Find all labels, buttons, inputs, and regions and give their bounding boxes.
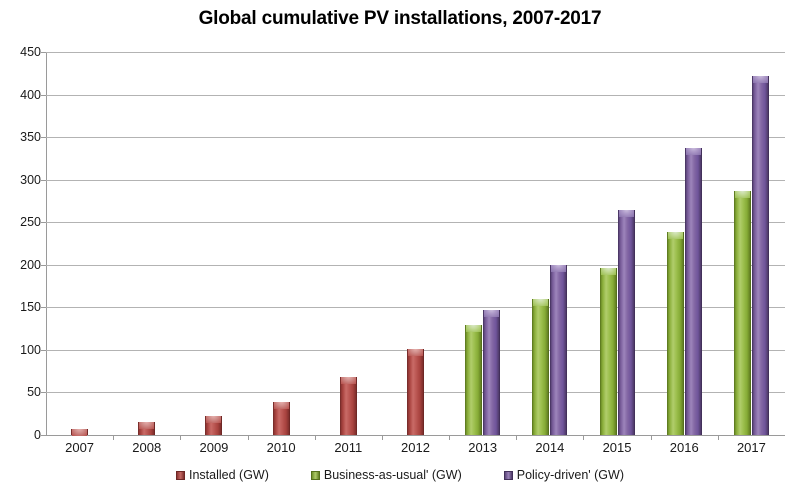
y-tick-label: 250 xyxy=(3,215,41,229)
legend-swatch-icon xyxy=(176,471,185,480)
x-tick-label: 2012 xyxy=(401,440,430,455)
bar[interactable] xyxy=(483,310,500,435)
y-tick-label: 200 xyxy=(3,258,41,272)
bar-top-cap xyxy=(753,76,768,83)
x-tick-label: 2009 xyxy=(199,440,228,455)
legend-item[interactable]: Policy-driven' (GW) xyxy=(504,468,624,482)
x-axis-line xyxy=(46,435,785,436)
x-tick-label: 2017 xyxy=(737,440,766,455)
y-tick-label: 350 xyxy=(3,130,41,144)
x-tick-label: 2016 xyxy=(670,440,699,455)
bar[interactable] xyxy=(600,268,617,435)
legend-label: Business-as-usual' (GW) xyxy=(324,468,462,482)
x-tick-label: 2014 xyxy=(535,440,564,455)
bar[interactable] xyxy=(752,76,769,435)
bar-top-cap xyxy=(668,232,683,239)
bar[interactable] xyxy=(532,299,549,435)
bar[interactable] xyxy=(273,402,290,435)
y-tick-label: 50 xyxy=(3,385,41,399)
bar-top-cap xyxy=(619,210,634,217)
bar-top-cap xyxy=(72,429,87,436)
bar-top-cap xyxy=(341,377,356,384)
legend-item[interactable]: Business-as-usual' (GW) xyxy=(311,468,462,482)
bar[interactable] xyxy=(340,377,357,435)
legend-swatch-icon xyxy=(504,471,513,480)
bar-top-cap xyxy=(686,148,701,155)
gridline xyxy=(46,180,785,181)
legend-label: Installed (GW) xyxy=(189,468,269,482)
y-tick-label: 150 xyxy=(3,300,41,314)
bar[interactable] xyxy=(734,191,751,435)
legend-label: Policy-driven' (GW) xyxy=(517,468,624,482)
bar[interactable] xyxy=(618,210,635,435)
bar[interactable] xyxy=(550,265,567,435)
y-axis-line xyxy=(46,52,47,436)
gridline xyxy=(46,52,785,53)
bar[interactable] xyxy=(465,325,482,435)
gridline xyxy=(46,137,785,138)
y-tick-label: 0 xyxy=(3,428,41,442)
bar-top-cap xyxy=(274,402,289,409)
bar[interactable] xyxy=(71,429,88,435)
bar-top-cap xyxy=(533,299,548,306)
y-axis: 050100150200250300350400450 xyxy=(0,52,41,436)
y-tick-label: 450 xyxy=(3,45,41,59)
bar[interactable] xyxy=(138,422,155,435)
x-tick-label: 2015 xyxy=(603,440,632,455)
bar-top-cap xyxy=(484,310,499,317)
bar-top-cap xyxy=(408,349,423,356)
bar-top-cap xyxy=(466,325,481,332)
y-tick-label: 100 xyxy=(3,343,41,357)
plot-area xyxy=(46,52,785,435)
chart-title: Global cumulative PV installations, 2007… xyxy=(0,8,800,30)
chart-legend: Installed (GW)Business-as-usual' (GW)Pol… xyxy=(0,468,800,482)
x-axis: 2007200820092010201120122013201420152016… xyxy=(46,440,785,462)
bar[interactable] xyxy=(205,416,222,435)
bar[interactable] xyxy=(685,148,702,435)
chart-container: Global cumulative PV installations, 2007… xyxy=(0,0,800,500)
bar[interactable] xyxy=(667,232,684,435)
x-tick-label: 2011 xyxy=(334,440,362,455)
bar[interactable] xyxy=(407,349,424,435)
gridline xyxy=(46,222,785,223)
x-tick-label: 2007 xyxy=(65,440,94,455)
legend-swatch-icon xyxy=(311,471,320,480)
x-tick-label: 2010 xyxy=(267,440,296,455)
y-tick-label: 300 xyxy=(3,173,41,187)
x-tick-label: 2008 xyxy=(132,440,161,455)
y-tick-label: 400 xyxy=(3,88,41,102)
bar-top-cap xyxy=(735,191,750,198)
bar-top-cap xyxy=(551,265,566,272)
legend-item[interactable]: Installed (GW) xyxy=(176,468,269,482)
x-tick-label: 2013 xyxy=(468,440,497,455)
bar-top-cap xyxy=(601,268,616,275)
bar-top-cap xyxy=(139,422,154,429)
bar-top-cap xyxy=(206,416,221,423)
gridline xyxy=(46,95,785,96)
